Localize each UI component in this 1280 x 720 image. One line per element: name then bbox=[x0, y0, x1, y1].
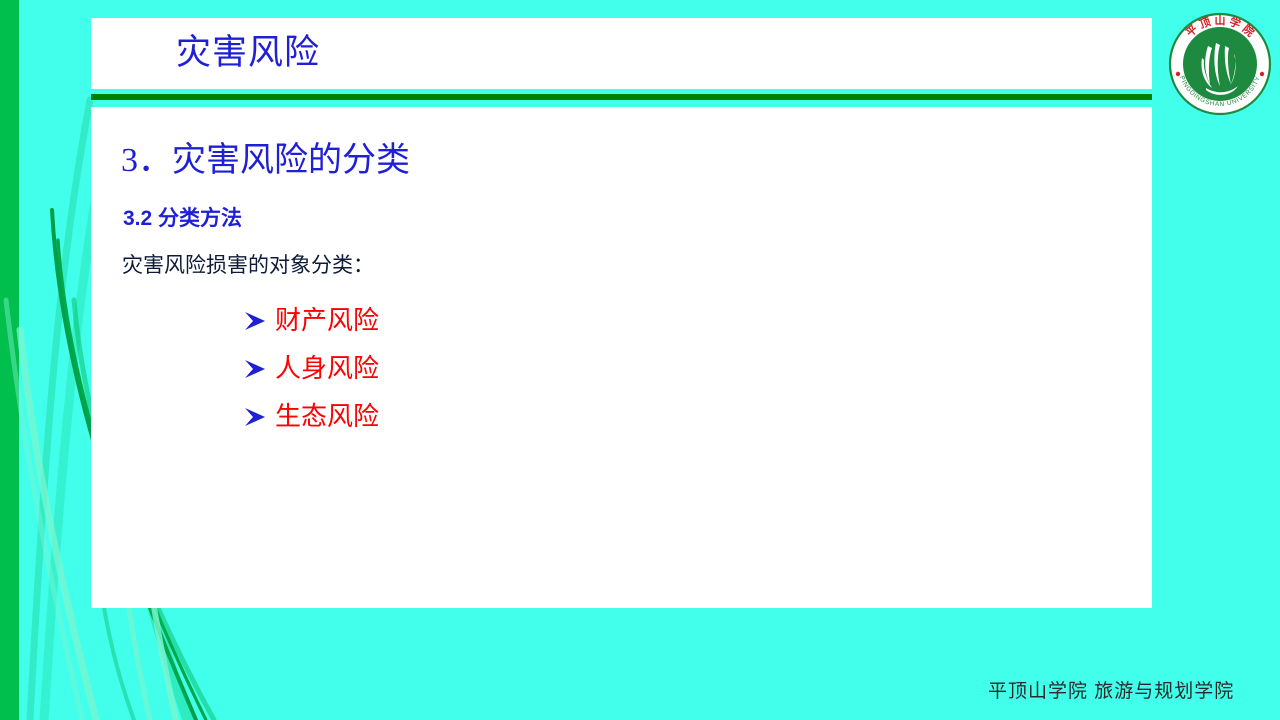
slide-title: 灾害风险 bbox=[176, 28, 320, 78]
section-subheading: 3.2 分类方法 bbox=[123, 205, 242, 233]
list-item: 生态风险 bbox=[243, 393, 743, 441]
arrow-bullet-icon bbox=[243, 406, 275, 428]
list-item: 人身风险 bbox=[243, 345, 743, 393]
list-item-label: 财产风险 bbox=[275, 306, 379, 336]
bullet-list: 财产风险 人身风险 生态风险 bbox=[243, 297, 743, 441]
arrow-bullet-icon bbox=[243, 358, 275, 380]
section-heading: 3．灾害风险的分类 bbox=[121, 139, 410, 183]
title-divider bbox=[91, 94, 1152, 100]
arrow-bullet-icon bbox=[243, 310, 275, 332]
lead-text: 灾害风险损害的对象分类： bbox=[122, 251, 374, 281]
title-panel: 灾害风险 bbox=[91, 18, 1152, 89]
list-item-label: 生态风险 bbox=[275, 402, 379, 432]
list-item: 财产风险 bbox=[243, 297, 743, 345]
presentation-slide: 灾害风险 3．灾害风险的分类 3.2 分类方法 灾害风险损害的对象分类： 财产风… bbox=[0, 0, 1280, 720]
list-item-label: 人身风险 bbox=[275, 354, 379, 384]
content-panel: 3．灾害风险的分类 3.2 分类方法 灾害风险损害的对象分类： 财产风险 人身风… bbox=[91, 107, 1152, 608]
footer-text: 平顶山学院 旅游与规划学院 bbox=[988, 680, 1234, 704]
university-logo: 平 顶 山 学 院 PINGDINGSHAN UNIVERSITY bbox=[1160, 2, 1280, 126]
